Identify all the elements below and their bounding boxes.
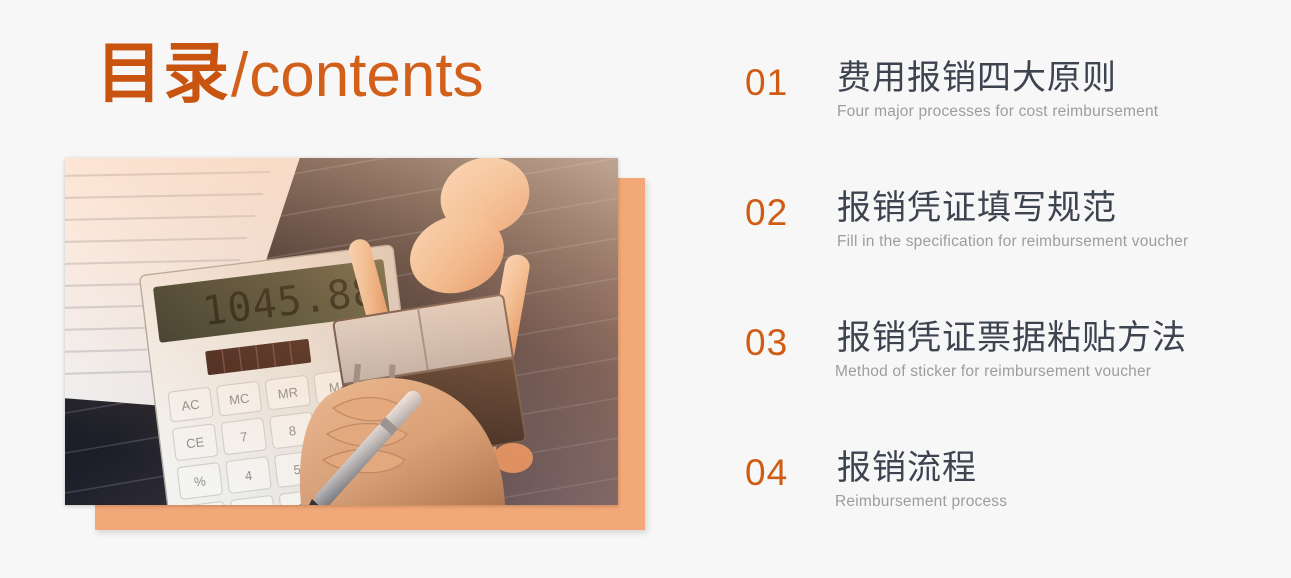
hero-photo: 1045.88: [65, 158, 618, 505]
table-of-contents: 01 费用报销四大原则 Four major processes for cos…: [745, 58, 1275, 578]
toc-number-01: 01: [745, 64, 788, 101]
toc-text-03: 报销凭证票据粘贴方法 Method of sticker for reimbur…: [837, 318, 1187, 382]
page-title-en: contents: [249, 41, 483, 110]
toc-heading-04: 报销流程: [837, 448, 1007, 489]
toc-item-03[interactable]: 03 报销凭证票据粘贴方法 Method of sticker for reim…: [745, 318, 1275, 448]
slide-canvas: 目录/contents: [0, 0, 1291, 575]
page-title-separator: /: [231, 41, 248, 110]
left-column: 目录/contents: [0, 0, 700, 575]
toc-number-04: 04: [745, 454, 788, 491]
toc-item-04[interactable]: 04 报销流程 Reimbursement process: [745, 448, 1275, 578]
toc-heading-02: 报销凭证填写规范: [837, 188, 1188, 229]
toc-item-02[interactable]: 02 报销凭证填写规范 Fill in the specification fo…: [745, 188, 1275, 318]
toc-number-03: 03: [745, 324, 788, 361]
toc-subheading-04: Reimbursement process: [835, 493, 1007, 512]
page-title-cn: 目录: [96, 36, 230, 110]
hero-photo-illustration: 1045.88: [65, 158, 618, 505]
toc-heading-01: 费用报销四大原则: [837, 58, 1158, 99]
toc-text-01: 费用报销四大原则 Four major processes for cost r…: [837, 58, 1158, 122]
toc-heading-03: 报销凭证票据粘贴方法: [837, 318, 1187, 359]
toc-text-02: 报销凭证填写规范 Fill in the specification for r…: [837, 188, 1188, 252]
toc-subheading-02: Fill in the specification for reimbursem…: [837, 233, 1188, 252]
toc-number-02: 02: [745, 194, 788, 231]
toc-subheading-03: Method of sticker for reimbursement vouc…: [835, 363, 1187, 382]
toc-text-04: 报销流程 Reimbursement process: [837, 448, 1007, 512]
toc-subheading-01: Four major processes for cost reimbursem…: [837, 103, 1158, 122]
page-title: 目录/contents: [96, 40, 484, 107]
toc-item-01[interactable]: 01 费用报销四大原则 Four major processes for cos…: [745, 58, 1275, 188]
